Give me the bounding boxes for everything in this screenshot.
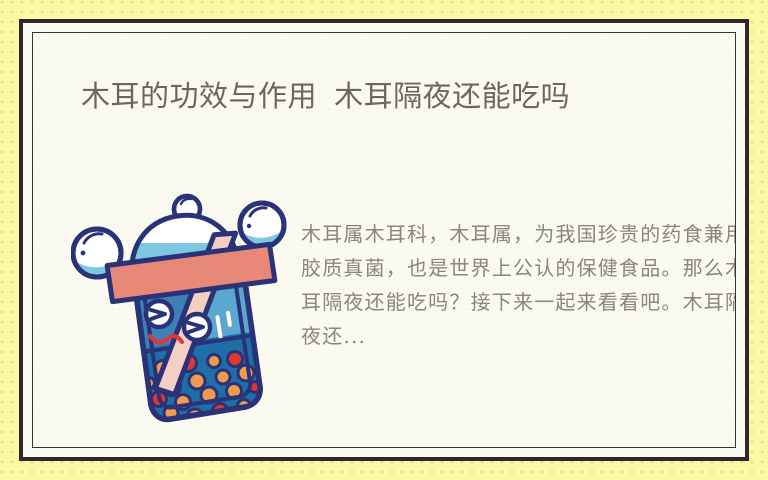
bubble-tea-illustration (71, 191, 299, 431)
page-title: 木耳的功效与作用 木耳隔夜还能吃吗 (81, 77, 681, 118)
card-frame-inner: 木耳的功效与作用 木耳隔夜还能吃吗 (32, 32, 736, 448)
page-backdrop: 木耳的功效与作用 木耳隔夜还能吃吗 (0, 0, 768, 480)
card-frame-outer: 木耳的功效与作用 木耳隔夜还能吃吗 (19, 19, 749, 461)
cup-group (106, 215, 276, 427)
content-area: 木耳属木耳科，木耳属，为我国珍贵的药食兼用胶质真菌，也是世界上公认的保健食品。那… (57, 183, 715, 427)
bubble-right-icon (240, 203, 284, 247)
article-body-text: 木耳属木耳科，木耳属，为我国珍贵的药食兼用胶质真菌，也是世界上公认的保健食品。那… (301, 217, 736, 353)
